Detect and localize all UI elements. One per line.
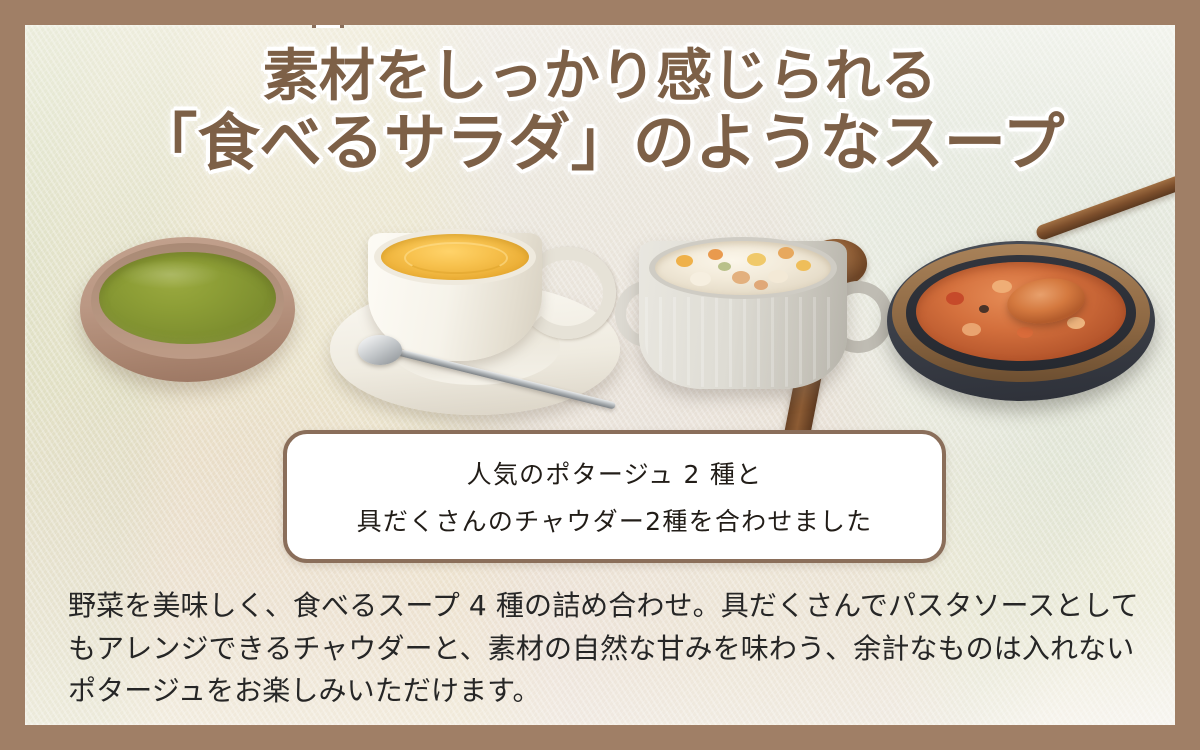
- soup-sheen: [119, 260, 222, 289]
- yellow-potage-cup: [330, 225, 630, 420]
- headline-line-1: 素材をしっかり感じられる: [25, 47, 1175, 106]
- white-chowder-mug: [623, 237, 893, 412]
- promo-banner: 素材をしっかり感じられる 「食べるサラダ」のようなスープ: [0, 0, 1200, 750]
- vegetable-piece: [1017, 327, 1033, 338]
- spoon-bowl: [358, 335, 402, 365]
- description: 野菜を美味しく、食べるスープ 4 種の詰め合わせ。具だくさんでパスタソースとして…: [68, 585, 1143, 713]
- carrot-dice: [708, 249, 723, 260]
- potato-dice: [768, 270, 788, 283]
- speech-bubble-text: 人気のポタージュ 2 種と 具だくさんのチャウダー2種を合わせました: [287, 434, 942, 559]
- clam-piece: [754, 280, 768, 290]
- description-text: 野菜を美味しく、食べるスープ 4 種の詰め合わせ。具だくさんでパスタソースとして…: [68, 585, 1143, 713]
- bubble-tail-icon: [312, 25, 348, 28]
- soup-swirl: [404, 242, 508, 274]
- corn-kernel: [676, 255, 693, 267]
- bubble-line-1: 人気のポタージュ 2 種と: [467, 455, 763, 491]
- corn-kernel: [747, 253, 766, 266]
- chowder-soup: [655, 241, 831, 295]
- mug-flutes: [645, 297, 841, 387]
- tomato-chowder-bowl: [887, 241, 1155, 401]
- potato-dice: [690, 272, 711, 286]
- headline: 素材をしっかり感じられる 「食べるサラダ」のようなスープ: [25, 47, 1175, 176]
- green-potage-bowl: [80, 237, 295, 382]
- tomato-piece: [946, 292, 964, 305]
- speech-bubble: 人気のポタージュ 2 種と 具だくさんのチャウダー2種を合わせました: [283, 430, 946, 563]
- celery-dice: [718, 262, 731, 271]
- headline-line-2: 「食べるサラダ」のようなスープ: [25, 110, 1175, 176]
- bean-piece: [962, 323, 981, 336]
- bubble-line-2: 具だくさんのチャウダー2種を合わせました: [357, 502, 873, 538]
- carrot-dice: [778, 247, 794, 259]
- clam-piece: [732, 271, 750, 284]
- corn-kernel: [796, 260, 811, 271]
- bean-piece: [992, 280, 1012, 293]
- photo-panel: 素材をしっかり感じられる 「食べるサラダ」のようなスープ: [25, 25, 1175, 725]
- bean-piece: [1067, 317, 1085, 329]
- pepper-fleck: [979, 305, 989, 313]
